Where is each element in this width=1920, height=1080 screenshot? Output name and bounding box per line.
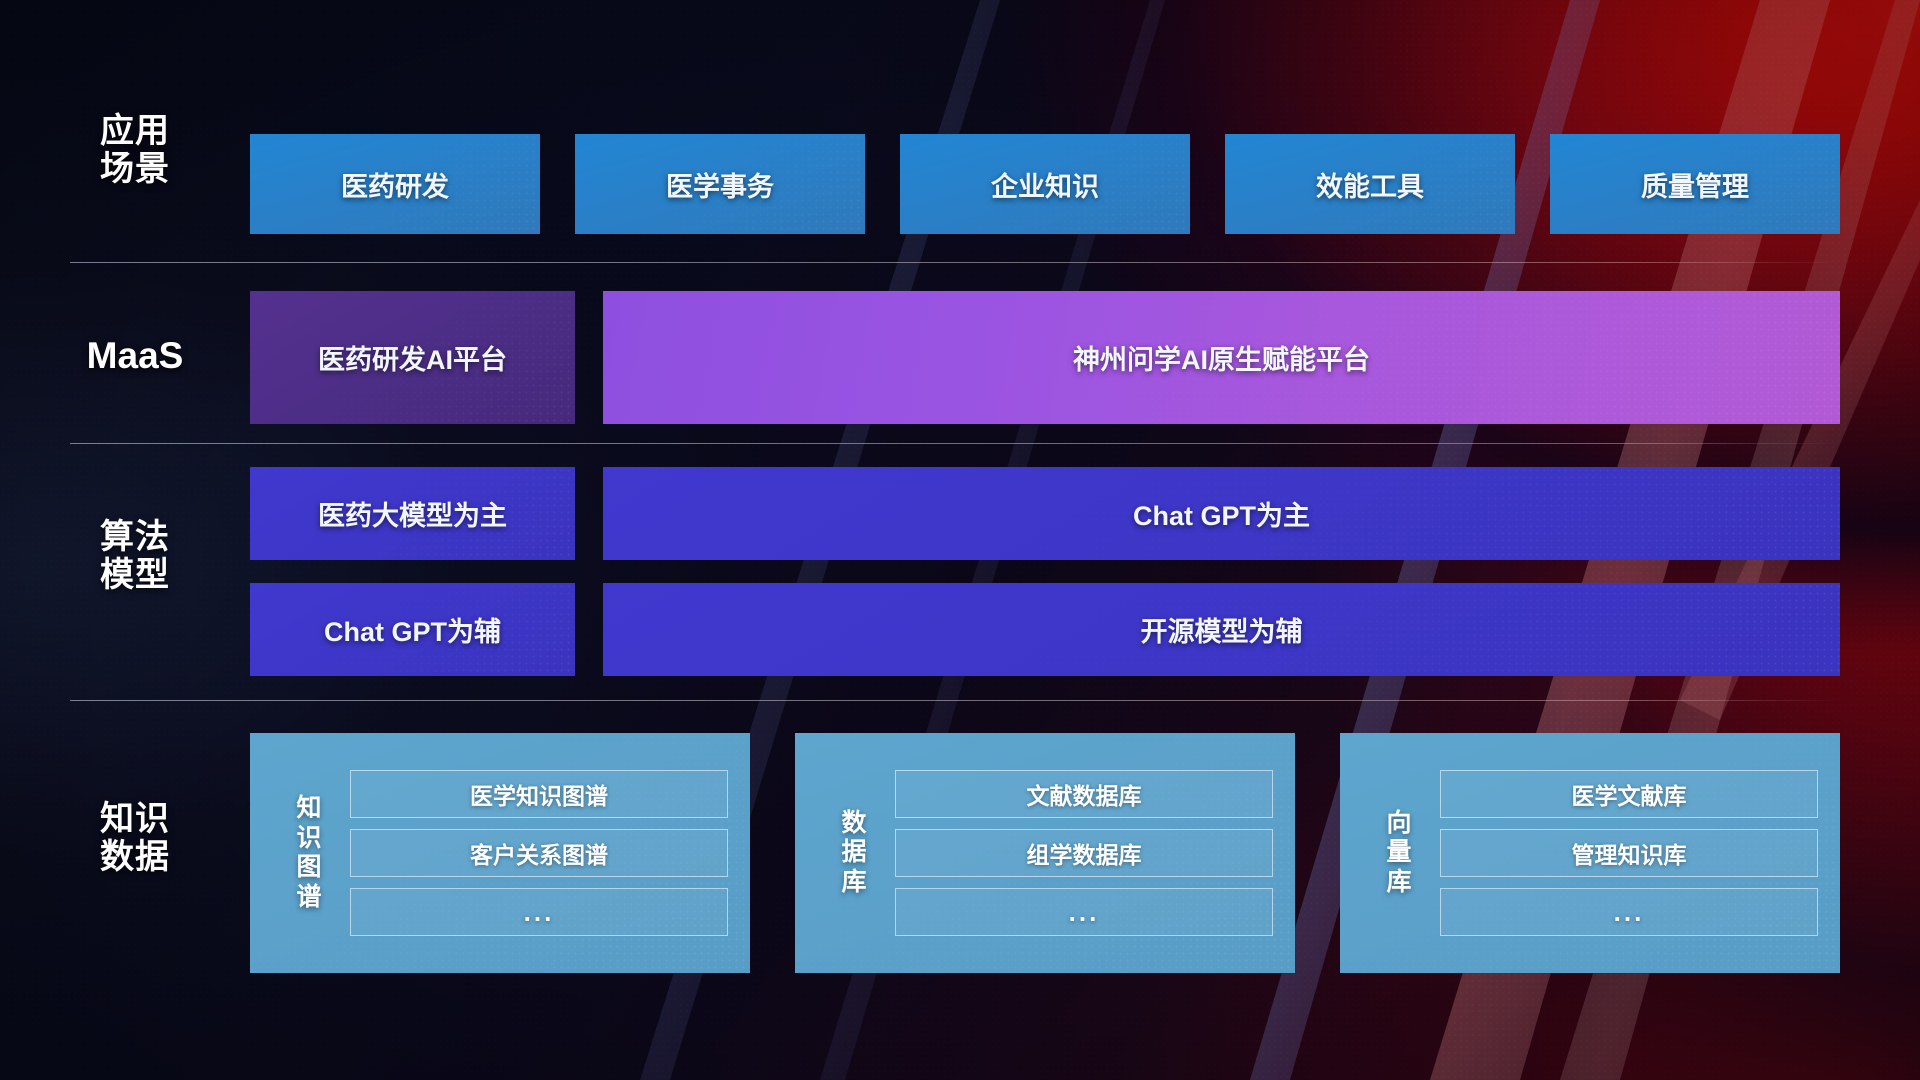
app-box-quality-management[interactable]: 质量管理 bbox=[1550, 134, 1840, 234]
knowledge-card-graph-title: 知 识 图 谱 bbox=[276, 794, 342, 912]
knowledge-card-graph[interactable]: 知 识 图 谱 医学知识图谱 客户关系图谱 ... bbox=[250, 733, 750, 973]
row-label-knowledge: 知识 数据 bbox=[70, 800, 200, 876]
knowledge-card-vector-list: 医学文献库 管理知识库 ... bbox=[1432, 754, 1840, 952]
algo-box-chatgpt-secondary[interactable]: Chat GPT为辅 bbox=[250, 583, 575, 676]
row-label-algorithm: 算法 模型 bbox=[70, 518, 200, 594]
maas-box-shenzhou-wenxue-platform[interactable]: 神州问学AI原生赋能平台 bbox=[603, 291, 1840, 424]
knowledge-item[interactable]: 管理知识库 bbox=[1440, 829, 1818, 877]
divider-algorithm-knowledge bbox=[70, 700, 1838, 701]
row-label-maas: MaaS bbox=[70, 335, 200, 376]
knowledge-item[interactable]: 文献数据库 bbox=[895, 770, 1273, 818]
knowledge-item[interactable]: 客户关系图谱 bbox=[350, 829, 728, 877]
knowledge-card-database[interactable]: 数 据 库 文献数据库 组学数据库 ... bbox=[795, 733, 1295, 973]
knowledge-card-database-title: 数 据 库 bbox=[821, 809, 887, 898]
knowledge-card-vector[interactable]: 向 量 库 医学文献库 管理知识库 ... bbox=[1340, 733, 1840, 973]
row-label-application: 应用 场景 bbox=[70, 112, 200, 188]
knowledge-card-vector-title: 向 量 库 bbox=[1366, 809, 1432, 898]
app-box-efficiency-tools[interactable]: 效能工具 bbox=[1225, 134, 1515, 234]
algo-box-opensource-secondary[interactable]: 开源模型为辅 bbox=[603, 583, 1840, 676]
knowledge-item[interactable]: 医学文献库 bbox=[1440, 770, 1818, 818]
divider-application-maas bbox=[70, 262, 1838, 263]
knowledge-item[interactable]: 医学知识图谱 bbox=[350, 770, 728, 818]
knowledge-item[interactable]: 组学数据库 bbox=[895, 829, 1273, 877]
architecture-diagram: 应用 场景 医药研发 医学事务 企业知识 效能工具 质量管理 MaaS 医药研发… bbox=[0, 0, 1920, 1080]
knowledge-item-more[interactable]: ... bbox=[350, 888, 728, 936]
app-box-enterprise-knowledge[interactable]: 企业知识 bbox=[900, 134, 1190, 234]
app-box-medicine-rd[interactable]: 医药研发 bbox=[250, 134, 540, 234]
divider-maas-algorithm bbox=[70, 443, 1838, 444]
app-box-medical-affairs[interactable]: 医学事务 bbox=[575, 134, 865, 234]
knowledge-card-graph-list: 医学知识图谱 客户关系图谱 ... bbox=[342, 754, 750, 952]
maas-box-medicine-ai-platform[interactable]: 医药研发AI平台 bbox=[250, 291, 575, 424]
knowledge-card-database-list: 文献数据库 组学数据库 ... bbox=[887, 754, 1295, 952]
algo-box-medicine-llm-primary[interactable]: 医药大模型为主 bbox=[250, 467, 575, 560]
knowledge-item-more[interactable]: ... bbox=[1440, 888, 1818, 936]
knowledge-item-more[interactable]: ... bbox=[895, 888, 1273, 936]
algo-box-chatgpt-primary[interactable]: Chat GPT为主 bbox=[603, 467, 1840, 560]
